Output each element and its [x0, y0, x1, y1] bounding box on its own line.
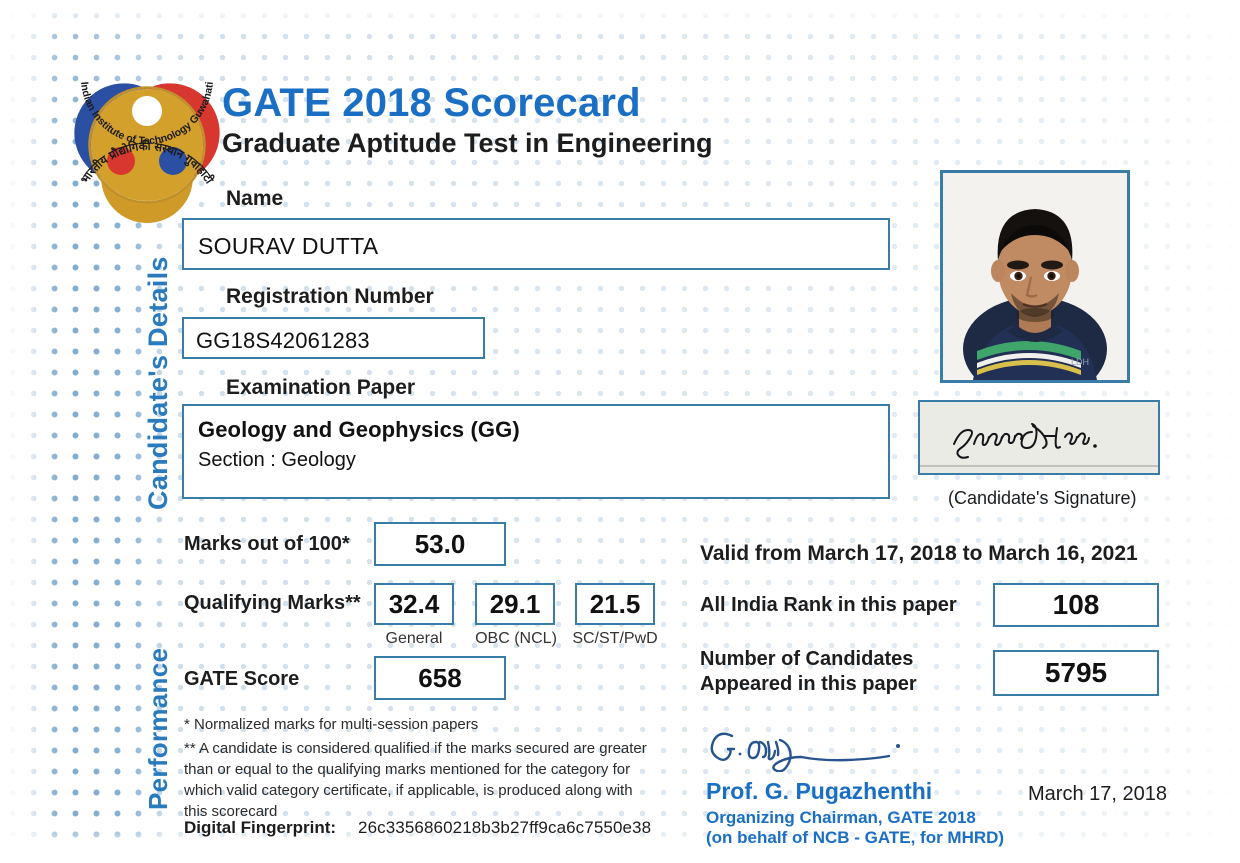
top-fade [0, 0, 1240, 30]
digital-fingerprint-label: Digital Fingerprint: [184, 818, 336, 837]
chairman-role-line1: Organizing Chairman, GATE 2018 [706, 808, 976, 828]
scorecard-title: GATE 2018 Scorecard [222, 80, 713, 126]
examination-paper-label: Examination Paper [226, 376, 415, 400]
gate-score-box: 658 [374, 656, 506, 700]
registration-number-value: GG18S42061283 [196, 328, 370, 354]
issue-date: March 17, 2018 [1028, 783, 1167, 806]
chairman-name: Prof. G. Pugazhenthi [706, 778, 932, 805]
qualifying-scstpwd-box: 21.5 [575, 583, 655, 625]
section-label-candidate-details: Candidate's Details [143, 256, 174, 510]
gate-score-value: 658 [418, 663, 461, 694]
qualifying-marks-label: Qualifying Marks** [184, 592, 361, 615]
marks-label: Marks out of 100* [184, 533, 350, 556]
all-india-rank-value: 108 [1053, 589, 1100, 621]
examination-paper-value: Geology and Geophysics (GG) [198, 417, 520, 443]
candidate-photo: LDH [940, 170, 1130, 383]
qualifying-general-box: 32.4 [374, 583, 454, 625]
all-india-rank-box: 108 [993, 583, 1159, 627]
digital-fingerprint: Digital Fingerprint:26c3356860218b3b27ff… [184, 818, 651, 838]
qualifying-scstpwd-value: 21.5 [590, 589, 641, 620]
footnotes: * Normalized marks for multi-session pap… [184, 714, 654, 822]
candidates-appeared-value: 5795 [1045, 657, 1107, 689]
gate-score-label: GATE Score [184, 668, 299, 691]
name-value: SOURAV DUTTA [198, 233, 378, 260]
chairman-role-line2: (on behalf of NCB - GATE, for MHRD) [706, 828, 1004, 848]
category-label-obc: OBC (NCL) [470, 630, 562, 648]
candidate-signature-box [918, 400, 1160, 475]
category-label-scstpwd: SC/ST/PwD [568, 630, 662, 648]
name-label: Name [226, 187, 283, 211]
candidates-appeared-label-line2: Appeared in this paper [700, 673, 917, 696]
qualifying-obc-value: 29.1 [490, 589, 541, 620]
qualifying-general-value: 32.4 [389, 589, 440, 620]
registration-number-label: Registration Number [226, 285, 434, 309]
candidate-signature-caption: (Candidate's Signature) [948, 488, 1137, 509]
candidates-appeared-box: 5795 [993, 650, 1159, 696]
examination-paper-field[interactable]: Geology and Geophysics (GG) Section : Ge… [182, 404, 890, 499]
category-label-general: General [374, 630, 454, 648]
all-india-rank-label: All India Rank in this paper [700, 594, 957, 617]
footnote-normalized-marks: * Normalized marks for multi-session pap… [184, 714, 654, 735]
qualifying-obc-box: 29.1 [475, 583, 555, 625]
name-field[interactable]: SOURAV DUTTA [182, 218, 890, 270]
chairman-signature [706, 724, 936, 772]
scorecard-subtitle: Graduate Aptitude Test in Engineering [222, 127, 713, 159]
svg-text:LDH: LDH [1071, 357, 1089, 367]
validity-text: Valid from March 17, 2018 to March 16, 2… [700, 542, 1138, 566]
iit-guwahati-logo: भारतीय प्रौद्योगिकी संस्थान गुवाहाटी • I… [64, 62, 230, 228]
section-label-performance: Performance [143, 648, 174, 810]
registration-number-field[interactable]: GG18S42061283 [182, 317, 485, 359]
marks-value: 53.0 [415, 529, 466, 560]
examination-section-value: Section : Geology [198, 449, 356, 472]
footnote-qualifying-criteria: ** A candidate is considered qualified i… [184, 738, 654, 822]
marks-value-box: 53.0 [374, 522, 506, 566]
page-title: GATE 2018 Scorecard Graduate Aptitude Te… [222, 80, 713, 159]
candidates-appeared-label-line1: Number of Candidates [700, 648, 913, 671]
digital-fingerprint-value: 26c3356860218b3b27ff9ca6c7550e38 [358, 818, 651, 837]
